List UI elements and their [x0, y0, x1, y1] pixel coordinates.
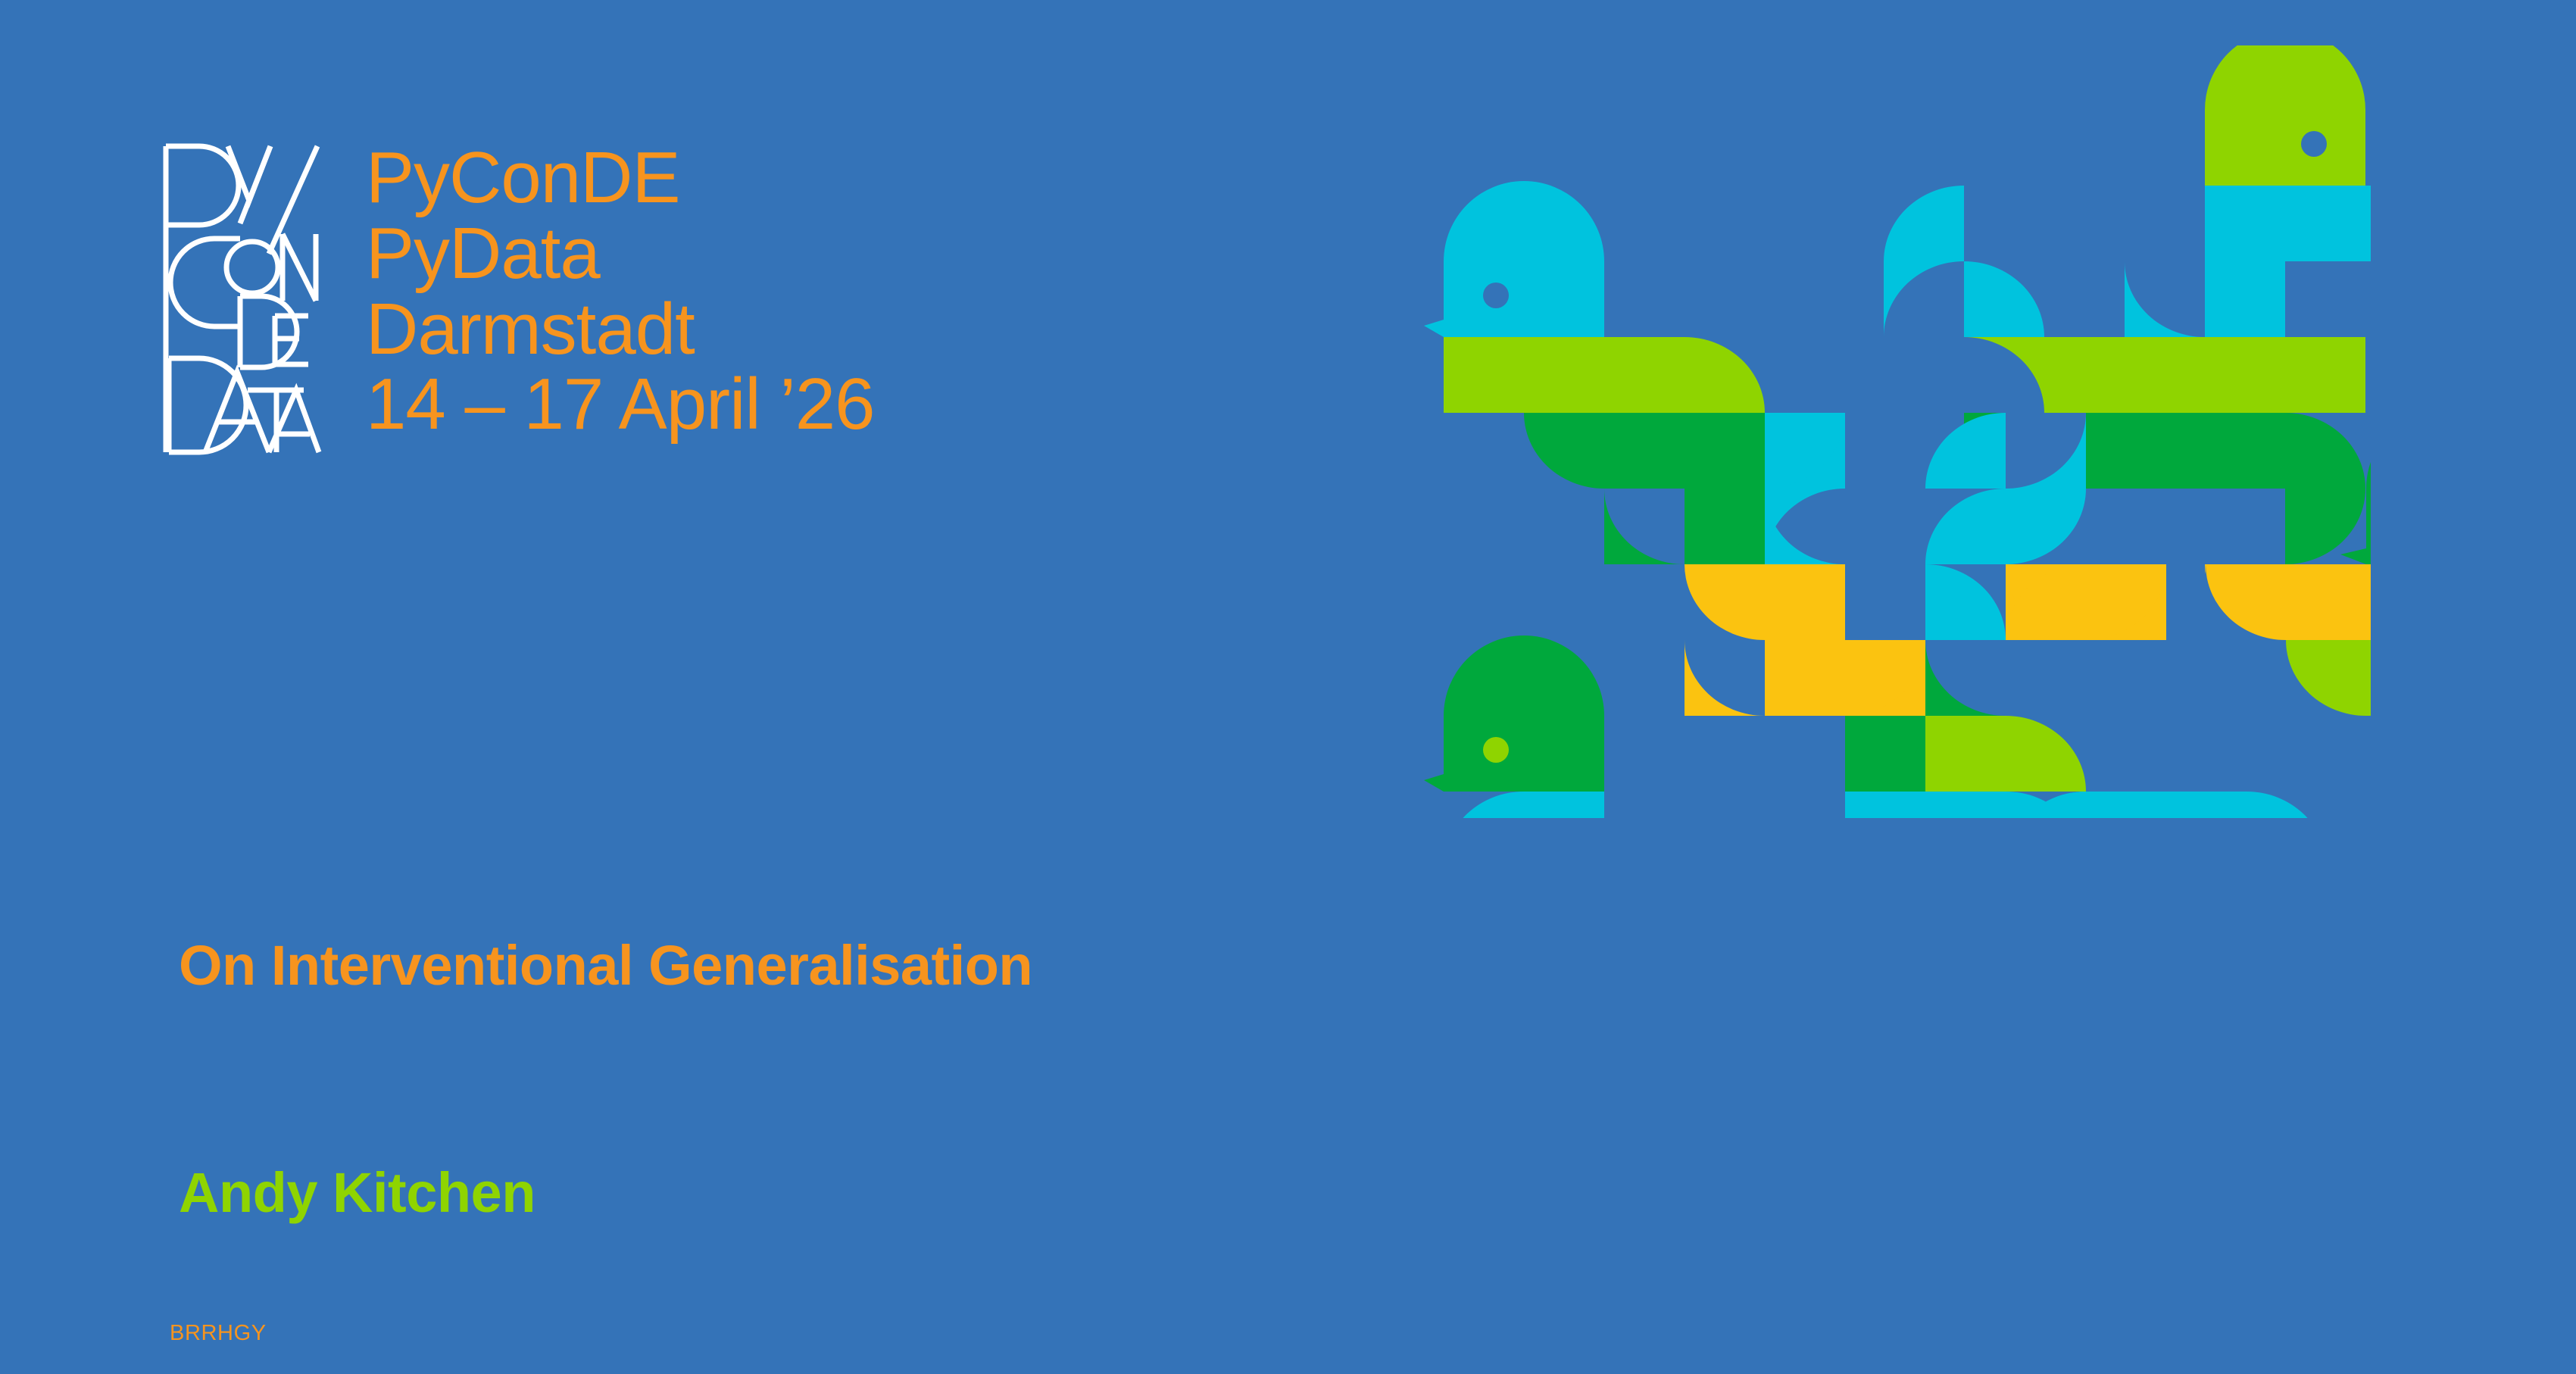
python-snake-pattern-graphic: [1424, 45, 2371, 818]
snake-eye-top-left: [1483, 283, 1509, 308]
event-line-conference: PyConDE: [366, 140, 875, 216]
snake-bottom-left: [1424, 635, 2086, 818]
speaker-name: Andy Kitchen: [179, 1160, 535, 1225]
event-title-block: PyConDE PyData Darmstadt 14 – 17 April ’…: [366, 140, 875, 442]
event-line-track: PyData: [366, 216, 875, 292]
pyconde-pydata-logo-icon: [155, 140, 323, 458]
event-line-dates: 14 – 17 April ’26: [366, 367, 875, 442]
talk-title: On Interventional Generalisation: [179, 933, 1032, 998]
snake-eye-top-right: [2301, 131, 2327, 157]
slide-canvas: PyConDE PyData Darmstadt 14 – 17 April ’…: [0, 0, 2576, 1374]
snake-middle-cyan-leaf: [1765, 413, 1845, 564]
event-line-city: Darmstadt: [366, 292, 875, 367]
snake-eye-bottom-left: [1483, 737, 1509, 763]
snake-top-left: [1424, 181, 1925, 716]
room-code: BRRHGY: [170, 1321, 267, 1346]
snake-bottom-centre: [1925, 792, 2371, 818]
conference-lockup: PyConDE PyData Darmstadt 14 – 17 April ’…: [155, 140, 875, 458]
